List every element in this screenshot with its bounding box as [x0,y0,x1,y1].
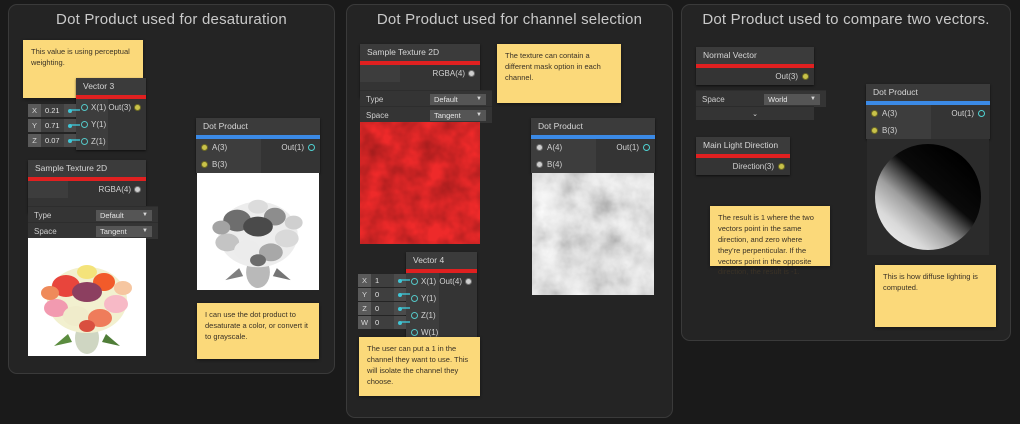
port-dot-icon[interactable] [802,73,809,80]
red-noise-texture-image [360,122,480,244]
port-input-a[interactable]: A(3) [871,105,931,122]
flower-bouquet-grayscale-image [197,173,319,290]
field-value[interactable]: 0 [371,288,394,301]
vector4-field-z[interactable]: Z 0 [358,302,406,315]
note-text: This is how diffuse lighting is computed… [883,272,978,292]
port-input-y[interactable]: Y(1) [411,290,439,307]
port-output-direction[interactable]: Direction(3) [696,158,785,175]
port-label: Z(1) [91,133,106,150]
port-output-out[interactable]: Out(1) [261,139,315,156]
node-body: Out(3) [696,68,814,85]
field-value[interactable]: 0 [371,316,394,329]
prop-value: Tangent [434,110,461,121]
prop-dropdown[interactable]: World ▼ [764,94,820,105]
node-expander-toggle[interactable]: ⌄ [696,106,814,120]
node-body: X(1) Y(1) Z(1) Out(3) [76,99,146,150]
node-title: Vector 4 [406,252,477,269]
port-area: Direction(3) [696,158,790,175]
input-ports: A(3) B(3) [866,105,931,139]
port-dot-icon[interactable] [536,144,543,151]
chevron-down-icon: ▼ [476,94,482,105]
port-label: A(3) [882,105,897,122]
port-input-b[interactable]: B(3) [871,122,931,139]
preview-texture-flowers-color [28,238,146,356]
port-input-b[interactable]: B(3) [201,156,261,173]
port-label: Z(1) [421,307,436,324]
node-body: RGBA(4) [28,181,146,198]
chevron-down-icon: ▼ [810,94,816,105]
port-dot-icon[interactable] [134,104,141,111]
node-normal-vector[interactable]: Normal Vector Out(3) [696,47,814,85]
output-ports: Out(1) [596,139,655,173]
prop-type-2[interactable]: Type Default ▼ [360,90,492,107]
port-input-z[interactable]: Z(1) [81,133,108,150]
port-dot-icon[interactable] [643,144,650,151]
output-ports: RGBA(4) [68,181,146,198]
prop-label: Space [702,95,725,104]
sticky-note-desaturate[interactable]: I can use the dot product to desaturate … [197,303,319,359]
port-label: Out(3) [775,68,798,85]
prop-type-1[interactable]: Type Default ▼ [28,206,158,223]
note-text: The result is 1 where the two vectors po… [718,213,814,276]
node-title: Dot Product [866,84,990,101]
port-dot-icon[interactable] [411,329,418,336]
port-output-out[interactable]: Out(3) [696,68,809,85]
sticky-note-dot-result[interactable]: The result is 1 where the two vectors po… [710,206,830,266]
port-input-y[interactable]: Y(1) [81,116,108,133]
port-dot-icon[interactable] [978,110,985,117]
node-body: A(3) B(3) Out(1) [196,139,320,173]
port-label: Out(1) [616,139,639,156]
node-dot-product-3[interactable]: Dot Product A(3) B(3) Out(1) [866,84,990,139]
port-input-x[interactable]: X(1) [81,99,108,116]
field-key: Y [358,288,371,301]
node-vector3[interactable]: Vector 3 X(1) Y(1) Z(1) [76,78,146,150]
node-dot-product-1[interactable]: Dot Product A(3) B(3) Out(1) [196,118,320,173]
panel-title: Dot Product used for desaturation [9,11,334,28]
prop-value: World [768,94,787,105]
port-output-rgba[interactable]: RGBA(4) [68,181,141,198]
output-ports: Out(4) [439,273,477,341]
chevron-down-icon: ▼ [476,110,482,121]
port-dot-icon[interactable] [465,278,472,285]
vector3-field-x[interactable]: X 0.21 [28,104,76,117]
port-input-a[interactable]: A(4) [536,139,596,156]
port-label: Y(1) [91,116,106,133]
prop-space-3[interactable]: Space World ▼ [696,90,826,107]
prop-space-1[interactable]: Space Tangent ▼ [28,222,158,239]
port-area: X(1) Y(1) Z(1) W(1) [406,273,477,341]
port-output-out[interactable]: Out(4) [439,273,472,290]
preview-dot-product-grayscale [197,173,319,290]
port-area: RGBA(4) [360,65,480,82]
prop-label: Space [34,227,57,236]
field-key: Z [358,302,371,315]
note-text: This value is using perceptual weighting… [31,47,130,67]
field-value[interactable]: 1 [371,274,394,287]
port-input-z[interactable]: Z(1) [411,307,439,324]
port-label: B(4) [547,156,562,173]
node-body: A(4) B(4) Out(1) [531,139,655,173]
field-key: X [358,274,371,287]
port-area: A(4) B(4) Out(1) [531,139,655,173]
node-dot-product-2[interactable]: Dot Product A(4) B(4) Out(1) [531,118,655,173]
panel-title: Dot Product used for channel selection [347,11,672,28]
node-title: Normal Vector [696,47,814,64]
output-ports: Direction(3) [696,158,790,175]
input-ports [28,181,68,198]
port-dot-icon[interactable] [536,161,543,168]
field-key: Z [28,134,41,147]
field-key: X [28,104,41,117]
vector3-field-y[interactable]: Y 0.71 [28,119,76,132]
sticky-note-channel-isolate[interactable]: The user can put a 1 in the channel they… [359,337,480,396]
port-dot-icon[interactable] [201,144,208,151]
prop-dropdown[interactable]: Tangent ▼ [430,110,486,121]
note-text: The texture can contain a different mask… [505,51,601,82]
field-value[interactable]: 0.07 [41,134,64,147]
port-area: X(1) Y(1) Z(1) Out(3) [76,99,146,150]
shader-graph-canvas: Dot Product used for desaturation This v… [0,0,1020,424]
node-title: Vector 3 [76,78,146,95]
node-title: Main Light Direction [696,137,790,154]
prop-value: Default [100,210,124,221]
node-body: Direction(3) [696,158,790,175]
port-label: X(1) [91,99,106,116]
port-input-x[interactable]: X(1) [411,273,439,290]
chevron-down-icon: ⌄ [752,110,758,118]
port-input-b[interactable]: B(4) [536,156,596,173]
port-dot-icon[interactable] [134,186,141,193]
prop-value: Tangent [100,226,127,237]
vector4-field-y[interactable]: Y 0 [358,288,406,301]
port-label: X(1) [421,273,436,290]
port-output-out[interactable]: Out(3) [108,99,141,116]
preview-dot-product-mask [532,173,654,295]
port-dot-icon[interactable] [871,110,878,117]
diffuse-lighting-sphere-image [867,139,989,255]
vector3-field-z[interactable]: Z 0.07 [28,134,76,147]
output-ports: Out(1) [931,105,990,139]
output-ports: Out(1) [261,139,320,173]
node-title: Dot Product [531,118,655,135]
prop-label: Type [366,95,383,104]
preview-dot-product-sphere [867,139,989,255]
port-dot-icon[interactable] [201,161,208,168]
field-value[interactable]: 0.71 [41,119,64,132]
port-label: B(3) [882,122,897,139]
field-value[interactable]: 0 [371,302,394,315]
prop-space-2[interactable]: Space Tangent ▼ [360,106,492,123]
port-input-a[interactable]: A(3) [201,139,261,156]
port-dot-icon[interactable] [468,70,475,77]
port-label: RGBA(4) [99,181,131,198]
prop-label: Space [366,111,389,120]
vector4-field-w[interactable]: W 0 [358,316,406,329]
port-area: A(3) B(3) Out(1) [196,139,320,173]
node-body: X(1) Y(1) Z(1) W(1) [406,273,477,342]
field-key: W [358,316,371,329]
port-output-rgba[interactable]: RGBA(4) [400,65,475,82]
output-ports: RGBA(4) [400,65,480,82]
prop-value: Default [434,94,458,105]
port-area: Out(3) [696,68,814,85]
port-label: Out(4) [439,273,462,290]
grayscale-noise-texture-image [532,173,654,295]
input-ports [360,65,400,82]
flower-bouquet-image [28,238,146,356]
input-ports: A(4) B(4) [531,139,596,173]
port-area: A(3) B(3) Out(1) [866,105,990,139]
port-dot-icon[interactable] [871,127,878,134]
node-title: Sample Texture 2D [360,44,480,61]
node-body: RGBA(4) [360,65,480,82]
vector3-field-connectors [70,104,84,150]
field-value[interactable]: 0.21 [41,104,64,117]
chevron-down-icon: ▼ [142,210,148,221]
port-label: Out(1) [281,139,304,156]
port-label: RGBA(4) [433,65,465,82]
node-vector4[interactable]: Vector 4 X(1) Y(1) Z(1) [406,252,477,342]
node-body: A(3) B(3) Out(1) [866,105,990,139]
node-title: Dot Product [196,118,320,135]
port-label: Y(1) [421,290,436,307]
prop-dropdown[interactable]: Default ▼ [96,210,152,221]
input-ports: A(3) B(3) [196,139,261,173]
port-output-out[interactable]: Out(1) [596,139,650,156]
vector4-field-x[interactable]: X 1 [358,274,406,287]
port-label: Direction(3) [733,158,774,175]
node-title: Sample Texture 2D [28,160,146,177]
port-output-out[interactable]: Out(1) [931,105,985,122]
port-area: RGBA(4) [28,181,146,198]
panel-title: Dot Product used to compare two vectors. [682,11,1010,28]
port-label: A(4) [547,139,562,156]
vector4-field-connectors [400,274,414,330]
port-label: Out(1) [951,105,974,122]
output-ports: Out(3) [108,99,146,150]
output-ports: Out(3) [696,68,814,85]
node-main-light-direction[interactable]: Main Light Direction Direction(3) [696,137,790,175]
chevron-down-icon: ▼ [142,226,148,237]
port-dot-icon[interactable] [308,144,315,151]
prop-dropdown[interactable]: Default ▼ [430,94,486,105]
note-text: The user can put a 1 in the channel they… [367,344,468,386]
prop-label: Type [34,211,51,220]
port-label: Out(3) [108,99,131,116]
port-label: A(3) [212,139,227,156]
sticky-note-channel-mask[interactable]: The texture can contain a different mask… [497,44,621,103]
port-label: B(3) [212,156,227,173]
preview-texture-red-mask [360,122,480,244]
port-dot-icon[interactable] [778,163,785,170]
note-text: I can use the dot product to desaturate … [205,310,308,341]
prop-dropdown[interactable]: Tangent ▼ [96,226,152,237]
field-key: Y [28,119,41,132]
sticky-note-diffuse[interactable]: This is how diffuse lighting is computed… [875,265,996,327]
